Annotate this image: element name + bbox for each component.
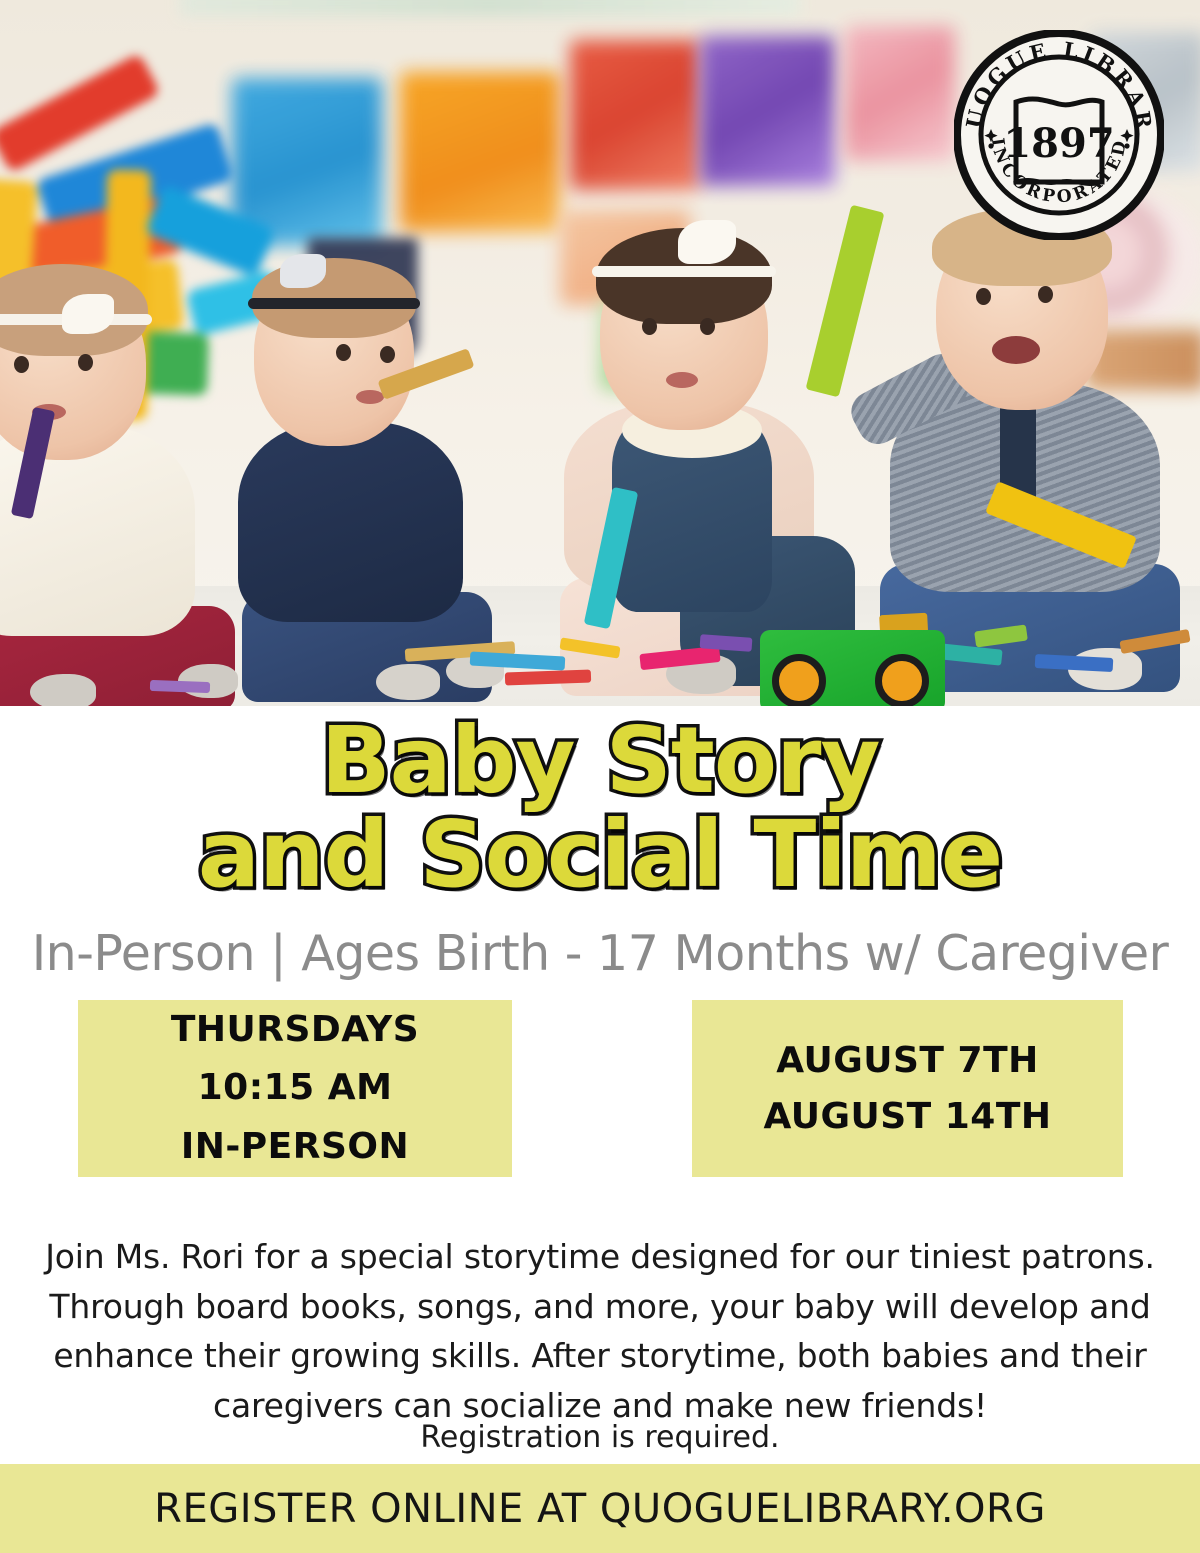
registration-note: Registration is required. bbox=[0, 1420, 1200, 1455]
floor-green-toy-truck bbox=[760, 630, 945, 706]
baby-1-sock-left bbox=[30, 674, 96, 706]
baby-3-bow bbox=[678, 220, 736, 264]
photo-poster-red bbox=[570, 40, 700, 190]
quogue-library-seal-logo: 1897 QUOGUE LIBRARY INCORPORATED bbox=[954, 30, 1164, 240]
photo-poster-purple bbox=[700, 36, 835, 186]
baby-3-headband bbox=[592, 266, 776, 277]
flyer-page: 1897 QUOGUE LIBRARY INCORPORATED bbox=[0, 0, 1200, 1553]
seal-year: 1897 bbox=[1003, 120, 1114, 167]
baby-1-bow bbox=[62, 294, 114, 334]
schedule-line-1: THURSDAYS bbox=[171, 1001, 419, 1059]
photo-poster-orange bbox=[400, 72, 560, 232]
baby-3-eye-right bbox=[700, 318, 715, 335]
schedule-line-2: 10:15 AM bbox=[198, 1059, 393, 1117]
baby-1-eye-right bbox=[78, 354, 93, 371]
schedule-info-box: THURSDAYS 10:15 AM IN-PERSON bbox=[78, 1000, 512, 1177]
title-line-2: and Social Time bbox=[0, 808, 1200, 902]
description-paragraph: Join Ms. Rori for a special storytime de… bbox=[42, 1232, 1158, 1430]
footer-register-text: REGISTER ONLINE AT QUOGUELIBRARY.ORG bbox=[154, 1486, 1046, 1532]
baby-4-eye-right bbox=[1038, 286, 1053, 303]
baby-2-eye-left bbox=[336, 344, 351, 361]
schedule-line-3: IN-PERSON bbox=[181, 1118, 409, 1176]
title-line-1: Baby Story bbox=[0, 714, 1200, 808]
floor-block-violet bbox=[150, 680, 210, 693]
baby-3-eye-left bbox=[642, 318, 657, 335]
baby-2-headband bbox=[248, 298, 420, 309]
baby-2-eye-right bbox=[380, 346, 395, 363]
baby-2-sock-left bbox=[376, 664, 440, 700]
baby-3-mouth bbox=[666, 372, 698, 388]
baby-4-eye-left bbox=[976, 288, 991, 305]
page-subtitle: In-Person | Ages Birth - 17 Months w/ Ca… bbox=[0, 925, 1200, 982]
baby-2-top bbox=[238, 422, 463, 622]
page-title: Baby Story and Social Time bbox=[0, 714, 1200, 902]
description-text: Join Ms. Rori for a special storytime de… bbox=[42, 1232, 1158, 1430]
baby-2-bow bbox=[280, 254, 326, 288]
photo-poster-pink bbox=[845, 26, 955, 161]
baby-4-mouth bbox=[992, 336, 1040, 364]
photo-background-strip bbox=[180, 0, 800, 16]
baby-2-mouth bbox=[356, 390, 384, 404]
footer-bar: REGISTER ONLINE AT QUOGUELIBRARY.ORG bbox=[0, 1464, 1200, 1553]
hero-photo: 1897 QUOGUE LIBRARY INCORPORATED bbox=[0, 0, 1200, 706]
dates-info-box: AUGUST 7TH AUGUST 14TH bbox=[692, 1000, 1123, 1177]
dates-line-1: AUGUST 7TH bbox=[776, 1033, 1039, 1089]
baby-1-eye-left bbox=[14, 356, 29, 373]
dates-line-2: AUGUST 14TH bbox=[763, 1089, 1051, 1145]
photo-baby-2 bbox=[228, 236, 528, 706]
